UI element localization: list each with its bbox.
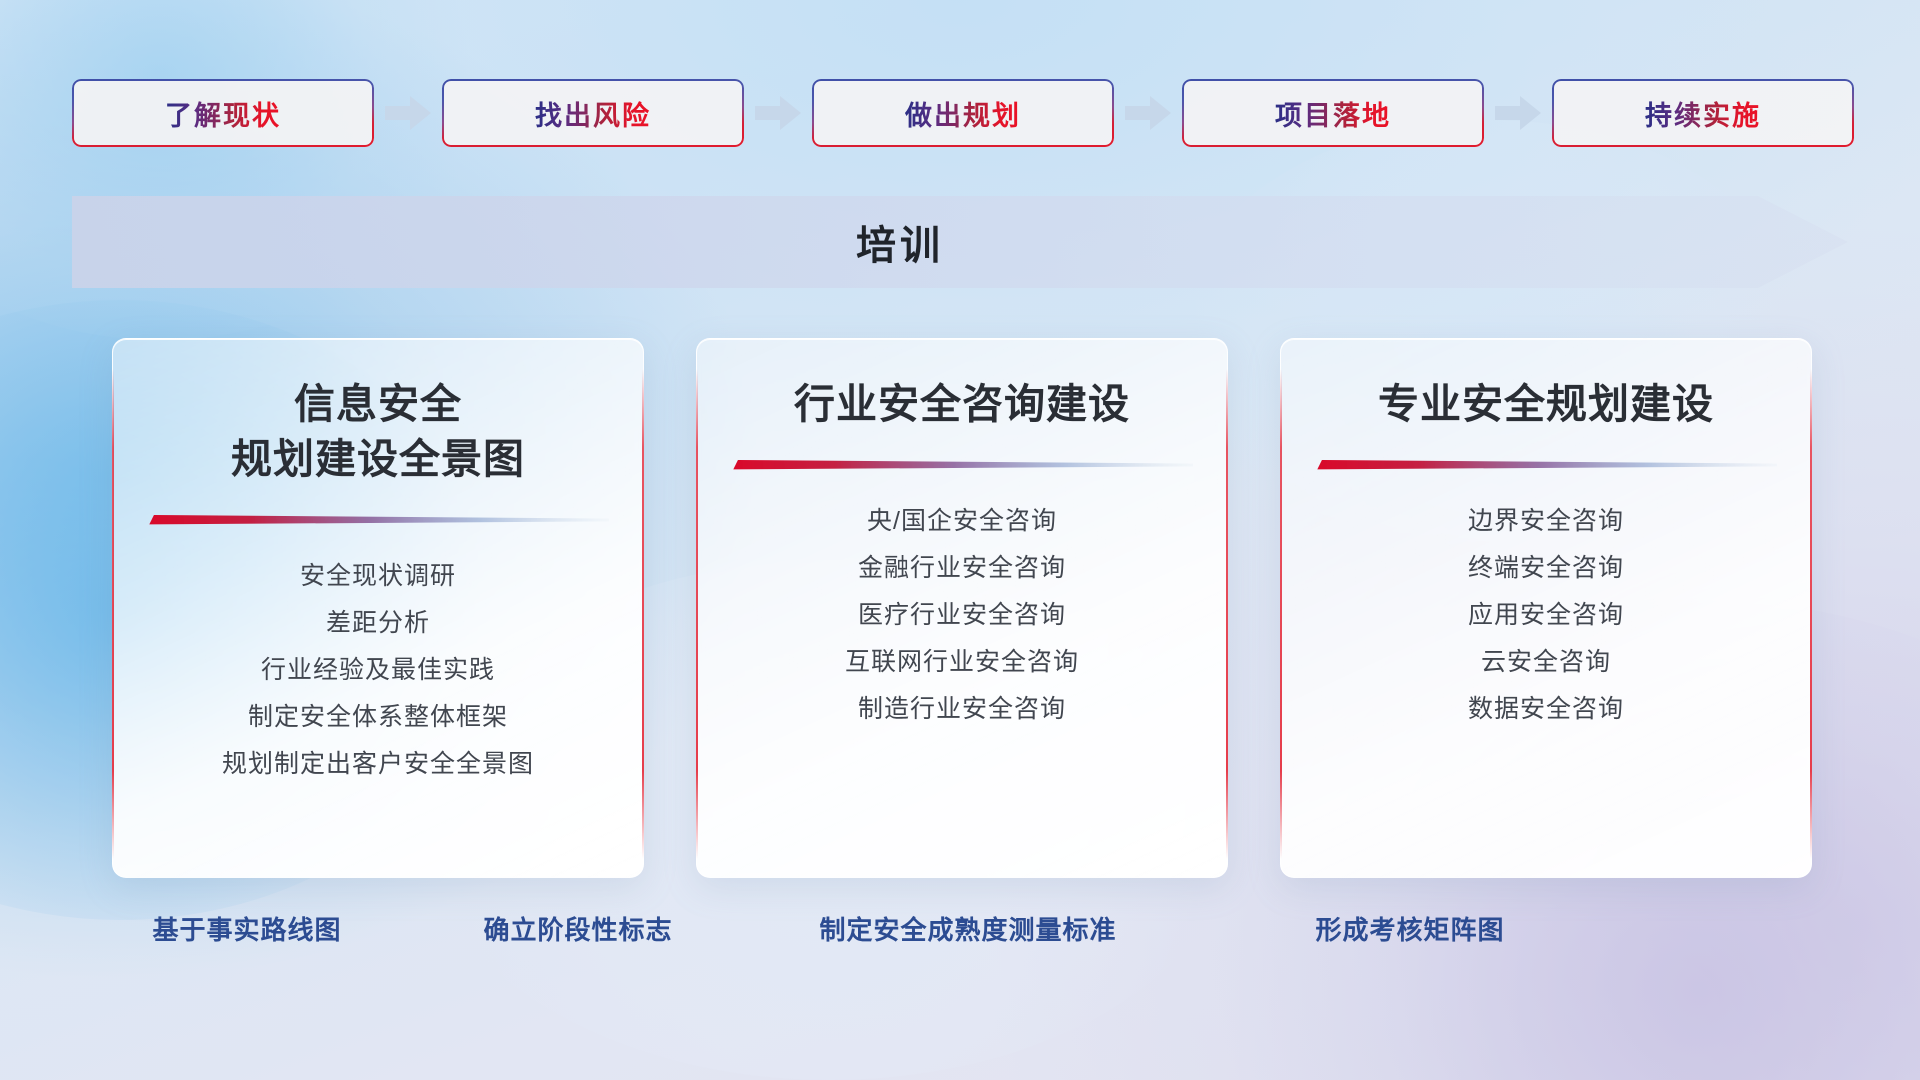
- card-divider: [731, 458, 1193, 472]
- cards-row: 信息安全 规划建设全景图 安全现状: [112, 338, 1812, 878]
- footer-labels-row: 基于事实路线图 确立阶段性标志 制定安全成熟度测量标准 形成考核矩阵图: [0, 910, 1920, 970]
- step-chip-5[interactable]: 持续实施: [1552, 79, 1854, 147]
- step-chip-2[interactable]: 找出风险: [442, 79, 744, 147]
- list-item: 安全现状调研: [147, 553, 609, 600]
- card-title: 信息安全 规划建设全景图: [231, 377, 525, 487]
- card-item-list: 边界安全咨询 终端安全咨询 应用安全咨询 云安全咨询 数据安全咨询: [1315, 498, 1777, 733]
- list-item: 央/国企安全咨询: [731, 498, 1193, 545]
- step-chip-1[interactable]: 了解现状: [72, 79, 374, 147]
- list-item: 制造行业安全咨询: [731, 686, 1193, 733]
- footer-label-3: 制定安全成熟度测量标准: [819, 910, 1116, 947]
- list-item: 金融行业安全咨询: [731, 545, 1193, 592]
- card-divider: [147, 513, 609, 527]
- card-industry-security-consulting[interactable]: 行业安全咨询建设 央/国企安全咨询: [696, 338, 1228, 878]
- slide-canvas: 了解现状 找出风险 做出规划 项目落地: [0, 0, 1920, 1080]
- list-item: 数据安全咨询: [1315, 686, 1777, 733]
- arrow-right-icon: [744, 96, 812, 130]
- arrow-right-icon: [374, 96, 442, 130]
- arrow-right-icon: [1114, 96, 1182, 130]
- list-item: 终端安全咨询: [1315, 545, 1777, 592]
- card-rail-left: [112, 369, 114, 859]
- step-chip-4[interactable]: 项目落地: [1182, 79, 1484, 147]
- card-rail-right: [642, 369, 644, 859]
- card-rail-left: [1280, 369, 1282, 859]
- card-divider: [1315, 458, 1777, 472]
- banner-label: 培训: [72, 196, 1848, 288]
- arrow-right-icon: [1484, 96, 1552, 130]
- footer-label-2: 确立阶段性标志: [483, 910, 672, 947]
- step-label: 持续实施: [1645, 94, 1761, 133]
- card-rail-right: [1226, 369, 1228, 859]
- background-blob-top-left: [0, 0, 480, 340]
- list-item: 医疗行业安全咨询: [731, 592, 1193, 639]
- list-item: 规划制定出客户安全全景图: [147, 741, 609, 788]
- list-item: 制定安全体系整体框架: [147, 694, 609, 741]
- card-item-list: 安全现状调研 差距分析 行业经验及最佳实践 制定安全体系整体框架 规划制定出客户…: [147, 553, 609, 788]
- step-chip-3[interactable]: 做出规划: [812, 79, 1114, 147]
- step-label: 项目落地: [1275, 94, 1391, 133]
- card-professional-security-planning[interactable]: 专业安全规划建设 边界安全咨询: [1280, 338, 1812, 878]
- list-item: 应用安全咨询: [1315, 592, 1777, 639]
- card-title: 行业安全咨询建设: [794, 377, 1130, 432]
- footer-label-4: 形成考核矩阵图: [1315, 910, 1504, 947]
- step-label: 找出风险: [535, 94, 651, 133]
- card-information-security-blueprint[interactable]: 信息安全 规划建设全景图 安全现状: [112, 338, 644, 878]
- list-item: 云安全咨询: [1315, 639, 1777, 686]
- list-item: 边界安全咨询: [1315, 498, 1777, 545]
- training-banner: 培训: [72, 196, 1848, 288]
- footer-label-1: 基于事实路线图: [152, 910, 341, 947]
- step-label: 做出规划: [905, 94, 1021, 133]
- process-steps-row: 了解现状 找出风险 做出规划 项目落地: [72, 78, 1848, 148]
- card-rail-right: [1810, 369, 1812, 859]
- card-rail-left: [696, 369, 698, 859]
- list-item: 差距分析: [147, 600, 609, 647]
- step-label: 了解现状: [165, 94, 281, 133]
- card-title: 专业安全规划建设: [1378, 377, 1714, 432]
- list-item: 互联网行业安全咨询: [731, 639, 1193, 686]
- card-item-list: 央/国企安全咨询 金融行业安全咨询 医疗行业安全咨询 互联网行业安全咨询 制造行…: [731, 498, 1193, 733]
- list-item: 行业经验及最佳实践: [147, 647, 609, 694]
